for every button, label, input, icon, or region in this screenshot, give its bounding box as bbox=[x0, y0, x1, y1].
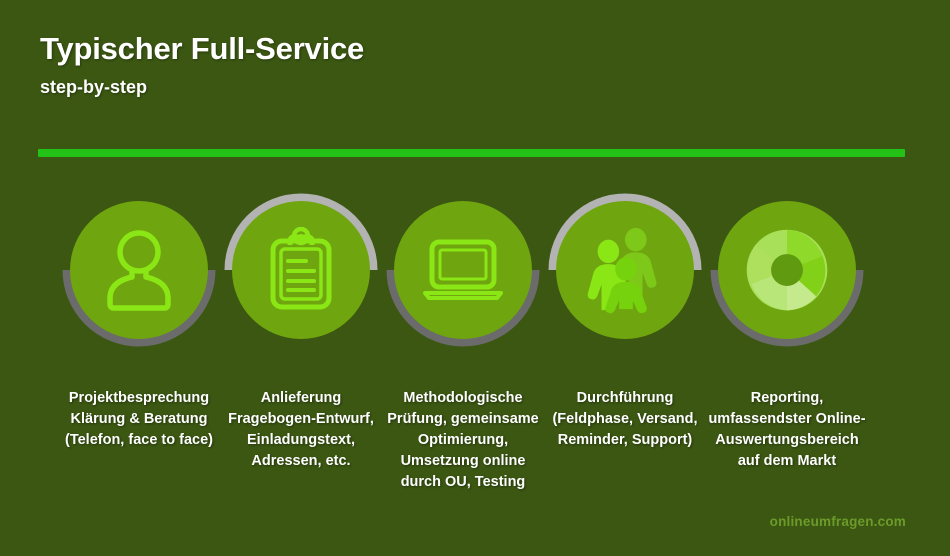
clipboard-icon bbox=[256, 225, 346, 315]
step-caption-5: Reporting, umfassendster Online- Auswert… bbox=[694, 388, 880, 472]
step-graphic-1 bbox=[54, 185, 224, 355]
step-graphic-3 bbox=[378, 185, 548, 355]
step-caption-2: Anlieferung Fragebogen-Entwurf, Einladun… bbox=[208, 388, 394, 472]
page-subtitle: step-by-step bbox=[40, 77, 910, 99]
page-title: Typischer Full-Service bbox=[40, 32, 910, 67]
donut-chart-icon bbox=[742, 225, 832, 315]
header: Typischer Full-Service step-by-step bbox=[40, 32, 910, 98]
step-graphic-5 bbox=[702, 185, 872, 355]
step-caption-4: Durchführung (Feldphase, Versand, Remind… bbox=[532, 388, 718, 451]
step-caption-3: Methodologische Prüfung, gemeinsame Opti… bbox=[370, 388, 556, 493]
infographic-slide: Typischer Full-Service step-by-step bbox=[0, 0, 950, 556]
person-icon bbox=[94, 225, 184, 315]
step-caption-1: Projektbesprechung Klärung & Beratung (T… bbox=[46, 388, 232, 451]
brand-footer: onlineumfragen.com bbox=[770, 514, 906, 529]
steps-row bbox=[0, 185, 950, 355]
people-group-icon bbox=[580, 225, 670, 315]
laptop-icon bbox=[418, 225, 508, 315]
header-divider bbox=[38, 149, 905, 157]
step-graphic-2 bbox=[216, 185, 386, 355]
step-graphic-4 bbox=[540, 185, 710, 355]
